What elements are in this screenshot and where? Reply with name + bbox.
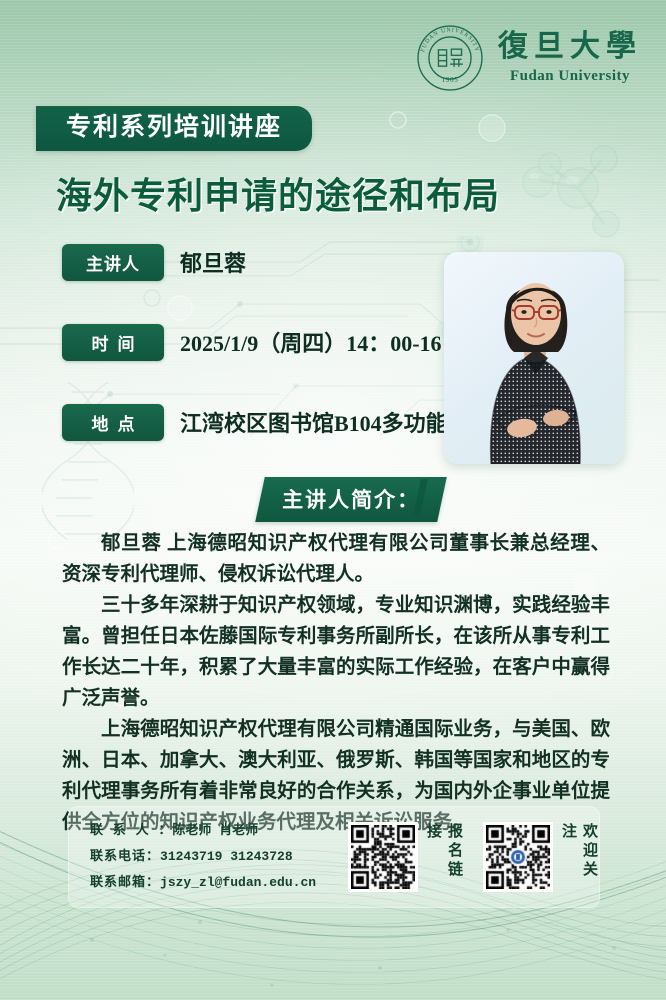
- contact-phone-label: 联系电话：: [90, 849, 160, 864]
- qr-code-follow[interactable]: [483, 822, 553, 892]
- contact-email-label: 联系邮箱：: [90, 875, 160, 890]
- bio-heading: 主讲人简介：: [260, 477, 442, 522]
- qr-code-registration[interactable]: [348, 822, 418, 892]
- fudan-seal-icon: FUDAN UNIVERSITY 1905: [416, 24, 484, 92]
- info-tag-location: 地点: [62, 404, 164, 441]
- molecule-decoration: [492, 118, 662, 248]
- university-name-cn: 復旦大學: [498, 32, 642, 62]
- poster-canvas: FUDAN UNIVERSITY 1905 復旦大學 Fudan Univers…: [0, 0, 666, 1000]
- info-value-time: 2025/1/9（周四）14：00-16：00: [180, 326, 486, 358]
- info-value-speaker: 郁旦蓉: [180, 246, 246, 278]
- contact-block: 联 系 人 ：陈老师 肖老师 联系电话：31243719 31243728 联系…: [90, 818, 330, 896]
- event-info: 主讲人 郁旦蓉 时间 2025/1/9（周四）14：00-16：00 地点 江湾…: [62, 243, 462, 441]
- svg-text:FUDAN UNIVERSITY: FUDAN UNIVERSITY: [420, 27, 480, 53]
- qr-label-follow: 欢迎关注: [558, 823, 600, 891]
- series-badge: 专利系列培训讲座: [36, 106, 312, 151]
- bio-heading-label: 主讲人简介：: [282, 484, 420, 514]
- contact-person-label: 联 系 人 ：: [90, 823, 172, 838]
- svg-text:1905: 1905: [442, 76, 459, 84]
- info-row-speaker: 主讲人 郁旦蓉: [62, 243, 462, 281]
- university-wordmark: 復旦大學 Fudan University: [498, 32, 642, 84]
- info-row-time: 时间 2025/1/9（周四）14：00-16：00: [62, 323, 462, 361]
- contact-email-row: 联系邮箱：jszy_zl@fudan.edu.cn: [90, 870, 330, 896]
- info-tag-time: 时间: [62, 324, 164, 361]
- qr-group-registration[interactable]: 报名链接: [348, 822, 465, 892]
- contact-email-value: jszy_zl@fudan.edu.cn: [160, 875, 316, 890]
- bio-paragraph: 郁旦蓉 上海德昭知识产权代理有限公司董事长兼总经理、资深专利代理师、侵权诉讼代理…: [62, 528, 610, 590]
- info-tag-speaker: 主讲人: [62, 244, 164, 281]
- contact-person-value: 陈老师 肖老师: [172, 823, 258, 838]
- speaker-photo: [444, 252, 624, 464]
- contact-person-row: 联 系 人 ：陈老师 肖老师: [90, 818, 330, 844]
- bio-paragraph: 三十多年深耕于知识产权领域，专业知识渊博，实践经验丰富。曾担任日本佐藤国际专利事…: [62, 590, 610, 714]
- contact-phone-row: 联系电话：31243719 31243728: [90, 844, 330, 870]
- speaker-portrait: [444, 252, 624, 464]
- university-name-en: Fudan University: [510, 69, 630, 84]
- info-row-location: 地点 江湾校区图书馆B104多功能厅: [62, 403, 462, 441]
- page-title: 海外专利申请的途径和布局: [56, 178, 500, 214]
- footer-panel: 联 系 人 ：陈老师 肖老师 联系电话：31243719 31243728 联系…: [68, 806, 600, 908]
- info-value-location: 江湾校区图书馆B104多功能厅: [180, 406, 470, 438]
- university-header: FUDAN UNIVERSITY 1905 復旦大學 Fudan Univers…: [416, 24, 642, 92]
- contact-phone-value: 31243719 31243728: [160, 849, 293, 864]
- qr-group-follow[interactable]: 欢迎关注: [483, 822, 600, 892]
- bio-body: 郁旦蓉 上海德昭知识产权代理有限公司董事长兼总经理、资深专利代理师、侵权诉讼代理…: [62, 528, 610, 838]
- qr-label-registration: 报名链接: [423, 823, 465, 891]
